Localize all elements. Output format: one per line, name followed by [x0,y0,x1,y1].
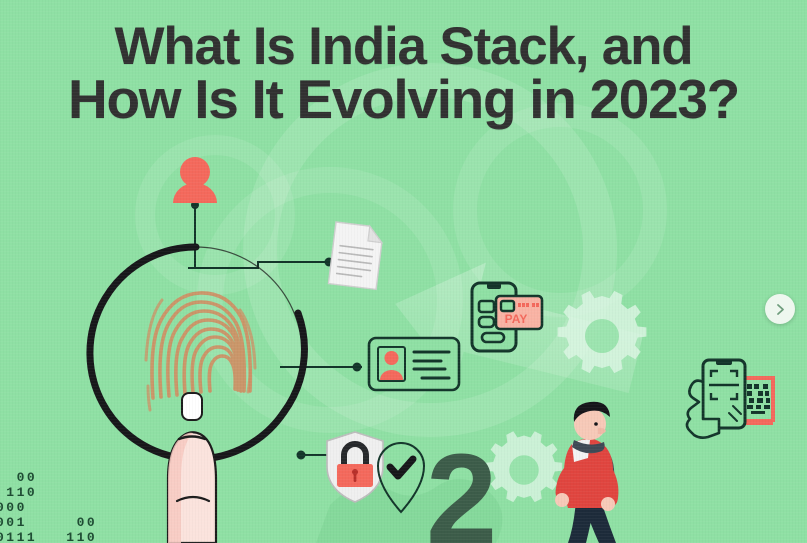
fingerprint-graphic [146,293,255,410]
big-number-two: 2 [426,428,497,543]
mobile-payment-icon: PAY [472,283,542,351]
connector-dot [297,451,306,460]
binary-decor-left: 00 110 000 001 0111 [0,470,37,543]
qr-scan-phone-icon [687,360,773,438]
check-icon [390,459,413,476]
id-card-icon [369,338,459,390]
pay-label: PAY [505,312,528,326]
person-avatar-icon [173,157,217,203]
page-title-line-2: How Is It Evolving in 2023? [14,73,793,126]
page-title: What Is India Stack, and How Is It Evolv… [0,20,807,126]
chevron-right-icon [774,303,787,316]
finger-pointing [168,393,216,543]
document-icon [328,222,383,289]
page-title-line-1: What Is India Stack, and [14,20,793,73]
location-pin-check-icon [378,443,424,512]
walking-person [555,402,618,543]
carousel-next-button[interactable] [765,294,795,324]
shield-lock-icon [327,432,383,502]
binary-decor-left-2: 00 110 000 [56,515,97,543]
connector-dot [353,363,362,372]
article-hero-banner: PAY 2 [0,0,807,543]
